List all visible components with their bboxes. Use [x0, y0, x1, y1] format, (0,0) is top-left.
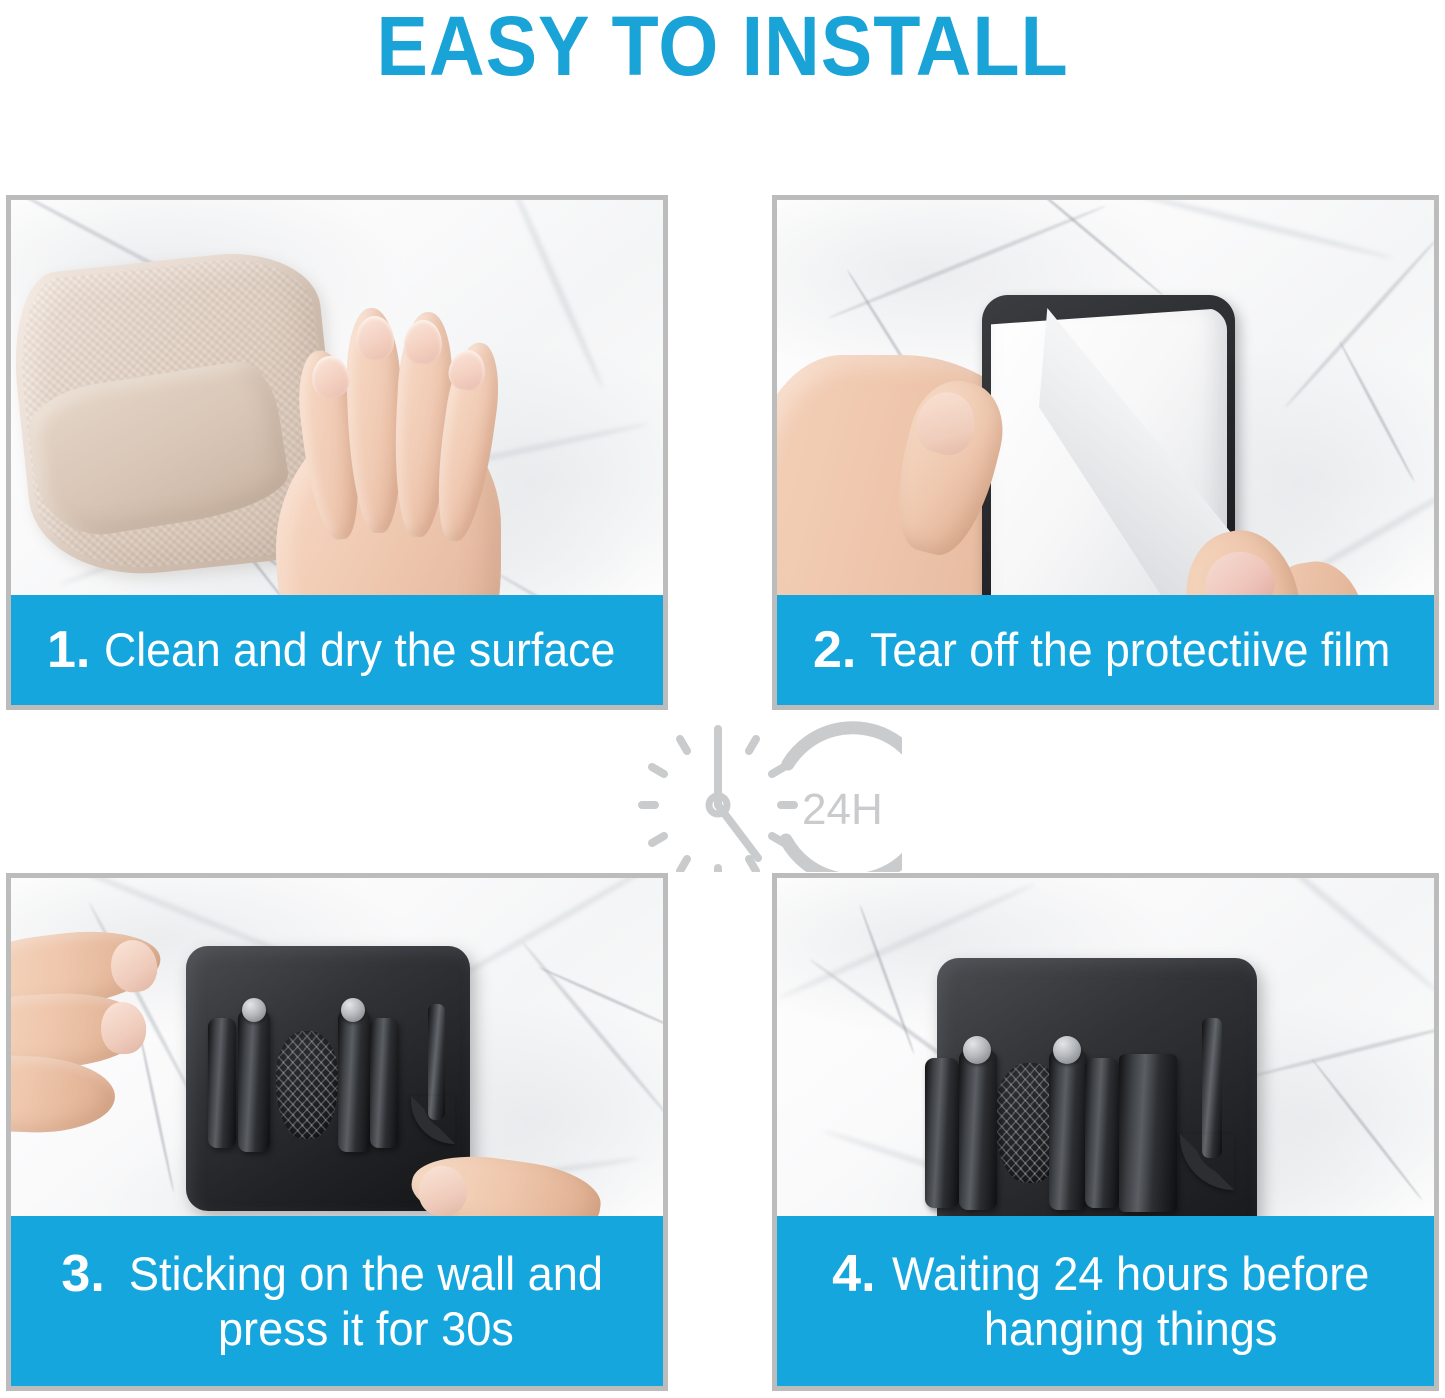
step-number: 4. [832, 1248, 875, 1300]
watermark-label: 24H [802, 785, 883, 834]
hand-pressing-bottom [411, 1136, 631, 1216]
roller-clamp [208, 1018, 236, 1148]
step-3-caption: 3. Sticking on the wall and press it for… [11, 1216, 663, 1386]
hook-curve [1180, 1134, 1234, 1190]
step-number: 2. [813, 624, 856, 676]
screw-head [1053, 1036, 1081, 1064]
screw-head [341, 998, 365, 1022]
step-1-caption: 1. Clean and dry the surface [11, 595, 663, 705]
step-panel-2: 2. Tear off the protectiive film [772, 195, 1439, 710]
step-4-caption: 4. Waiting 24 hours before hanging thing… [777, 1216, 1434, 1386]
step-1-photo [11, 200, 663, 595]
step-2-photo [777, 200, 1434, 595]
screw-head [963, 1036, 991, 1064]
step-number: 3. [61, 1248, 104, 1300]
finger [11, 1053, 116, 1135]
step-text: Tear off the protectiive film [870, 622, 1390, 677]
step-text-line: hanging things [983, 1302, 1277, 1355]
clock-icon: 24H [612, 712, 902, 872]
shower-holder-bracket-mounted [937, 958, 1257, 1216]
roller-clamp [1049, 1050, 1087, 1210]
step-panel-3: 3. Sticking on the wall and press it for… [6, 873, 668, 1391]
screw-head [242, 998, 266, 1022]
step-text-line: press it for 30s [218, 1302, 514, 1355]
roller-clamp [959, 1050, 997, 1210]
step-text: Sticking on the wall and press it for 30… [129, 1246, 603, 1357]
wait-24-hours-watermark: 24H [612, 712, 902, 872]
bracket-cradle [1119, 1054, 1177, 1212]
step-number: 1. [47, 624, 90, 676]
roller-clamp [338, 1010, 370, 1152]
hand-wiping [236, 290, 536, 595]
fingernail [355, 315, 395, 360]
step-text: Waiting 24 hours before hanging things [891, 1246, 1368, 1357]
step-panel-4: 4. Waiting 24 hours before hanging thing… [772, 873, 1439, 1391]
fingernail [100, 1001, 148, 1055]
roller-clamp [1085, 1058, 1119, 1208]
roller-clamp [925, 1058, 959, 1208]
step-text: Clean and dry the surface [104, 622, 615, 677]
roller-clamp [370, 1018, 398, 1148]
step-4-photo [777, 878, 1434, 1216]
step-text-line: Waiting 24 hours before [891, 1247, 1368, 1300]
step-panel-1: 1. Clean and dry the surface [6, 195, 668, 710]
hand-pressing-top [11, 928, 211, 1128]
page-title: EASY TO INSTALL [58, 0, 1387, 92]
roller-clamp [238, 1010, 270, 1152]
step-3-photo [11, 878, 663, 1216]
step-text-line: Sticking on the wall and [129, 1247, 603, 1300]
rubber-grip-pad [276, 1031, 338, 1139]
step-2-caption: 2. Tear off the protectiive film [777, 595, 1434, 705]
